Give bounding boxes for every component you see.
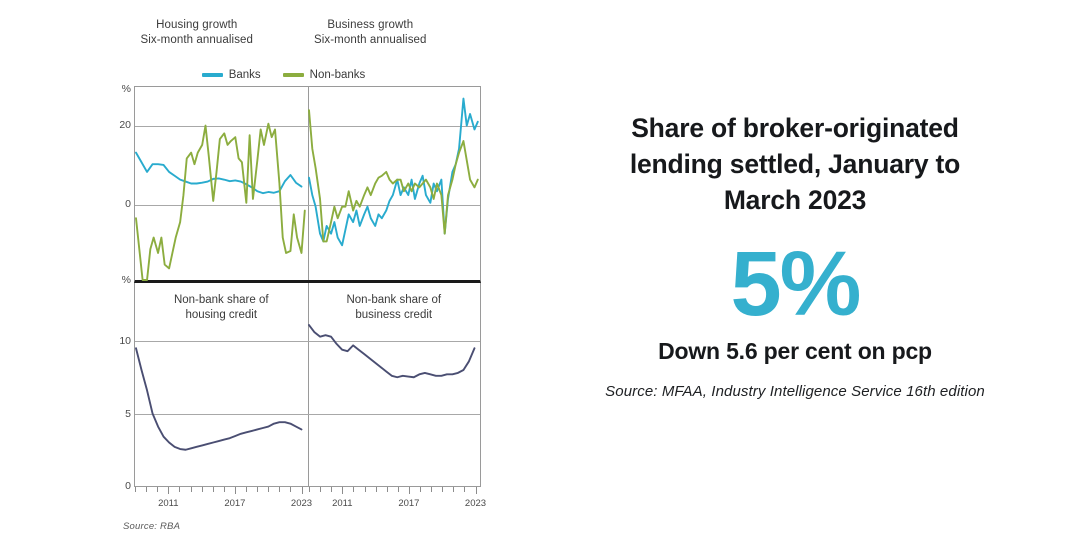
x-axis-tick — [387, 487, 388, 492]
panel-title-line2: Six-month annualised — [284, 33, 458, 48]
share-plot-area: Non-bank share of housing credit Non-ban… — [134, 283, 481, 487]
panel-title-business-growth: Business growth Six-month annualised — [284, 18, 458, 64]
growth-series-svg — [135, 87, 480, 280]
panel-title-line1: Business growth — [327, 19, 413, 31]
x-axis-label: 2011 — [158, 498, 178, 509]
x-axis-tick — [146, 487, 147, 492]
x-axis-tick — [309, 487, 310, 492]
y-label-percent-top: % — [122, 83, 131, 95]
chart-source-note: Source: RBA — [123, 521, 180, 532]
x-axis-label: 2017 — [224, 498, 245, 509]
panel-title-line1: Housing growth — [156, 19, 237, 31]
y-label-0: 0 — [125, 480, 131, 492]
stat-big-number: 5% — [556, 236, 1034, 332]
panel-title-housing-growth: Housing growth Six-month annualised — [110, 18, 284, 64]
x-axis-tick — [290, 487, 291, 492]
x-axis-tick — [442, 487, 443, 492]
x-axis-tick — [376, 487, 377, 492]
legend-item-non-banks: Non-banks — [283, 69, 366, 81]
legend-swatch-banks-icon — [202, 73, 223, 77]
infographic-page: Housing growth Six-month annualised Busi… — [0, 0, 1089, 554]
chart-x-axis: 201120172023201120172023 — [134, 487, 481, 517]
x-axis-tick — [409, 487, 410, 494]
x-axis-tick — [320, 487, 321, 492]
x-axis-label: 2011 — [332, 498, 352, 509]
x-axis-tick — [179, 487, 180, 492]
x-axis-tick — [202, 487, 203, 492]
x-axis-tick — [213, 487, 214, 492]
x-axis-tick — [268, 487, 269, 492]
x-axis-tick — [302, 487, 303, 494]
x-axis-label: 2023 — [465, 498, 486, 509]
share-y-axis-labels: 10 5 0 — [110, 283, 131, 487]
legend-swatch-non-banks-icon — [283, 73, 304, 77]
x-axis-tick — [365, 487, 366, 492]
growth-plot-area — [134, 86, 481, 283]
x-axis-tick — [476, 487, 477, 494]
x-axis-tick — [235, 487, 236, 494]
legend-label-banks: Banks — [229, 69, 261, 81]
y-label-20: 20 — [119, 119, 131, 131]
x-axis-tick — [257, 487, 258, 492]
chart-legend: Banks Non-banks — [110, 64, 457, 86]
x-axis-label: 2017 — [398, 498, 419, 509]
y-label-5: 5 — [125, 408, 131, 420]
x-axis-tick — [342, 487, 343, 494]
stat-subtext: Down 5.6 per cent on pcp — [556, 338, 1034, 365]
x-axis-label: 2023 — [291, 498, 312, 509]
x-axis-tick — [464, 487, 465, 492]
series-line — [309, 99, 478, 246]
x-axis-tick — [353, 487, 354, 492]
x-axis-tick — [431, 487, 432, 492]
x-axis-tick — [331, 487, 332, 492]
series-line — [136, 124, 305, 280]
x-axis-tick — [398, 487, 399, 492]
x-axis-tick — [135, 487, 136, 492]
rba-chart-block: Housing growth Six-month annualised Busi… — [110, 18, 470, 533]
legend-label-non-banks: Non-banks — [310, 69, 366, 81]
series-line — [136, 348, 301, 450]
panel-title-line2: Six-month annualised — [110, 33, 284, 48]
x-axis-tick — [453, 487, 454, 492]
stat-source-note: Source: MFAA, Industry Intelligence Serv… — [556, 383, 1034, 400]
legend-item-banks: Banks — [202, 69, 261, 81]
x-axis-tick — [420, 487, 421, 492]
share-series-svg — [135, 283, 480, 486]
x-axis-tick — [279, 487, 280, 492]
x-axis-tick — [157, 487, 158, 492]
y-label-0: 0 — [125, 198, 131, 210]
growth-y-axis-labels: % 20 0 % — [110, 86, 131, 283]
stat-panel: Share of broker-originated lending settl… — [556, 110, 1034, 400]
series-line — [309, 325, 474, 377]
x-axis-tick — [168, 487, 169, 494]
chart-panel-titles: Housing growth Six-month annualised Busi… — [110, 18, 457, 64]
stat-heading: Share of broker-originated lending settl… — [595, 110, 995, 218]
x-axis-tick — [191, 487, 192, 492]
x-axis-tick — [246, 487, 247, 492]
x-axis-tick — [224, 487, 225, 492]
y-label-10: 10 — [119, 335, 131, 347]
